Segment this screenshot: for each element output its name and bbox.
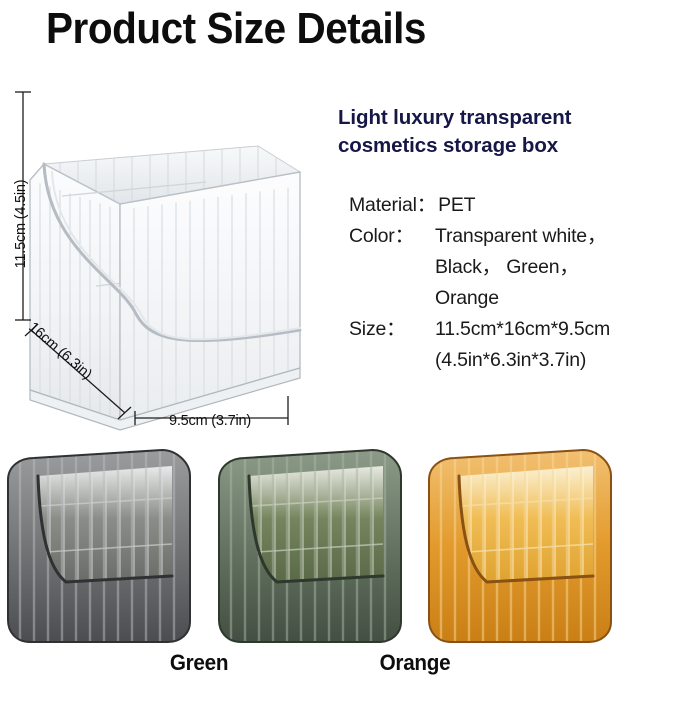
product-info-panel: Light luxury transparent cosmetics stora… <box>338 104 674 376</box>
dimension-label-height: 11.5cm (4.5in) <box>13 172 29 276</box>
spec-value-material: PET <box>436 190 674 221</box>
spec-value-line: PET <box>438 190 674 221</box>
spec-value-line: Black， Green， <box>435 252 674 283</box>
variant-box-illustration <box>205 436 431 651</box>
spec-value-line: Orange <box>435 283 674 314</box>
variant-box-illustration <box>415 436 641 651</box>
spec-key-material: Material： <box>338 190 436 221</box>
color-variant-row: Black <box>0 436 679 702</box>
variant-label: Green <box>93 650 305 676</box>
variant-box-illustration <box>0 436 220 651</box>
spec-row-material: Material： PET <box>338 190 674 221</box>
spec-key-size: Size： <box>338 314 433 345</box>
color-variant-orange[interactable]: Orange <box>415 436 641 702</box>
spec-value-line: Transparent white， <box>435 221 674 252</box>
spec-list: Material： PET Color： Transparent white， … <box>338 190 674 376</box>
variant-label: Black <box>0 650 77 676</box>
dimension-label-width: 9.5cm (3.7in) <box>130 413 290 429</box>
page-title: Product Size Details <box>46 2 426 56</box>
spec-value-line: (4.5in*6.3in*3.7in) <box>435 345 674 376</box>
spec-value-size: 11.5cm*16cm*9.5cm (4.5in*6.3in*3.7in) <box>433 314 674 376</box>
hero-product-figure: 11.5cm (4.5in) 16cm (6.3in) 9.5cm (3.7in… <box>0 68 340 433</box>
spec-key-color: Color： <box>338 221 433 252</box>
spec-row-size: Size： 11.5cm*16cm*9.5cm (4.5in*6.3in*3.7… <box>338 314 674 376</box>
spec-row-color: Color： Transparent white， Black， Green， … <box>338 221 674 314</box>
product-headline: Light luxury transparent cosmetics stora… <box>338 104 674 160</box>
spec-value-color: Transparent white， Black， Green， Orange <box>433 221 674 314</box>
spec-value-line: 11.5cm*16cm*9.5cm <box>435 314 674 345</box>
transparent-storage-box-illustration <box>0 68 340 433</box>
variant-label: Orange <box>309 650 521 676</box>
